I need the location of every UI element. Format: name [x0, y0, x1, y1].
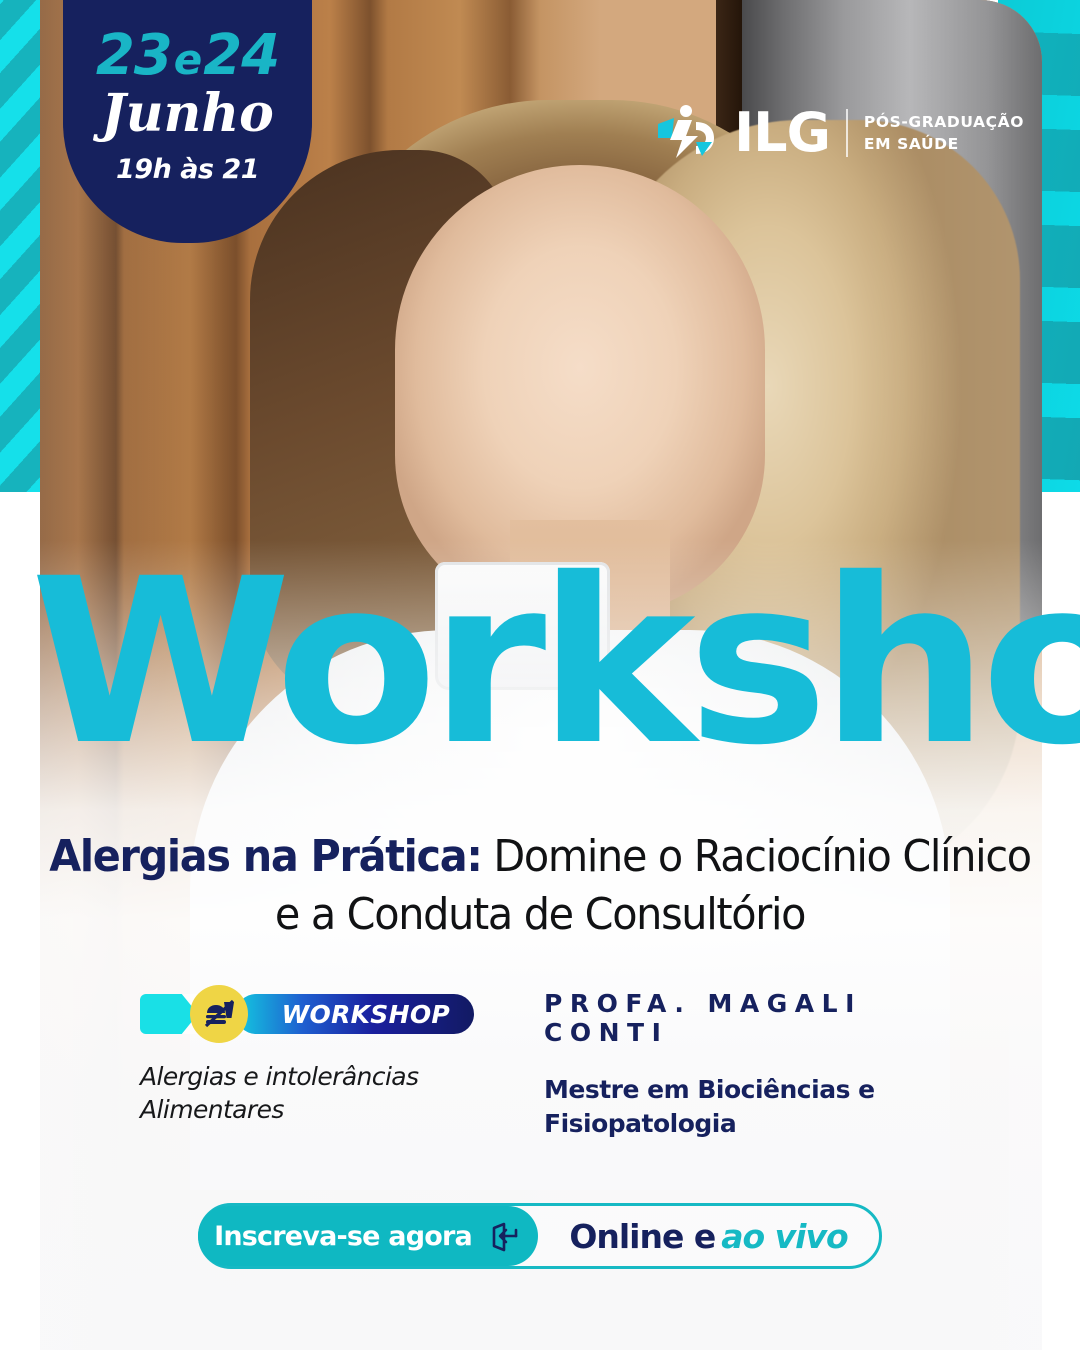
logo-divider — [846, 109, 848, 157]
logo-tagline: PÓS-GRADUAÇÃO EM SAÚDE — [864, 111, 1024, 155]
date-day-second: 24 — [203, 23, 279, 88]
logo-wordmark: ILG — [734, 106, 830, 160]
logo-tagline-line1: PÓS-GRADUAÇÃO — [864, 111, 1024, 133]
register-button[interactable]: Inscreva-se agora — [198, 1206, 538, 1266]
topic-badge: WORKSHOP — [140, 985, 485, 1043]
date-time: 19h às 21 — [63, 154, 312, 185]
badge-icon-circle — [190, 985, 248, 1043]
promotional-flyer: 23e24 Junho 19h às 21 ILG PÓS-GRADUAÇÃO … — [0, 0, 1080, 1350]
format-label-emphasis: ao vivo — [715, 1217, 847, 1256]
no-food-allergy-icon — [201, 996, 237, 1032]
enter-login-arrow-icon — [490, 1220, 522, 1252]
logo-tagline-line2: EM SAÚDE — [864, 133, 1024, 155]
badge-label: WORKSHOP — [282, 1000, 450, 1029]
date-days: 23e24 — [63, 28, 312, 84]
brand-logo: ILG PÓS-GRADUAÇÃO EM SAÚDE — [656, 104, 1024, 162]
date-badge: 23e24 Junho 19h às 21 — [63, 0, 312, 243]
badge-gradient-bar: WORKSHOP — [236, 994, 474, 1034]
date-conjunction: e — [172, 35, 204, 84]
register-button-label: Inscreva-se agora — [214, 1221, 472, 1252]
format-label-prefix: Online e — [569, 1217, 715, 1256]
cta-bar[interactable]: Inscreva-se agora Online e ao vivo — [198, 1203, 882, 1269]
page-title: Workshop — [30, 555, 1080, 769]
subtitle-highlight: Alergias na Prática: — [49, 831, 481, 882]
date-month: Junho — [63, 86, 312, 142]
topic-caption: Alergias e intolerâncias Alimentares — [140, 1061, 440, 1126]
speaker-block: PROFA. MAGALI CONTI Mestre em Biociência… — [500, 985, 940, 1141]
speaker-credentials: Mestre em Biociências e Fisiopatologia — [544, 1073, 940, 1141]
date-day-first: 23 — [96, 23, 172, 88]
subtitle: Alergias na Prática: Domine o Raciocínio… — [32, 828, 1047, 944]
format-label: Online e ao vivo — [538, 1217, 879, 1256]
ilg-monogram-icon — [656, 104, 718, 162]
info-row: WORKSHOP Alergias e intolerâncias Alimen… — [0, 985, 1080, 1141]
topic-block: WORKSHOP Alergias e intolerâncias Alimen… — [140, 985, 500, 1141]
speaker-name: PROFA. MAGALI CONTI — [544, 989, 940, 1047]
